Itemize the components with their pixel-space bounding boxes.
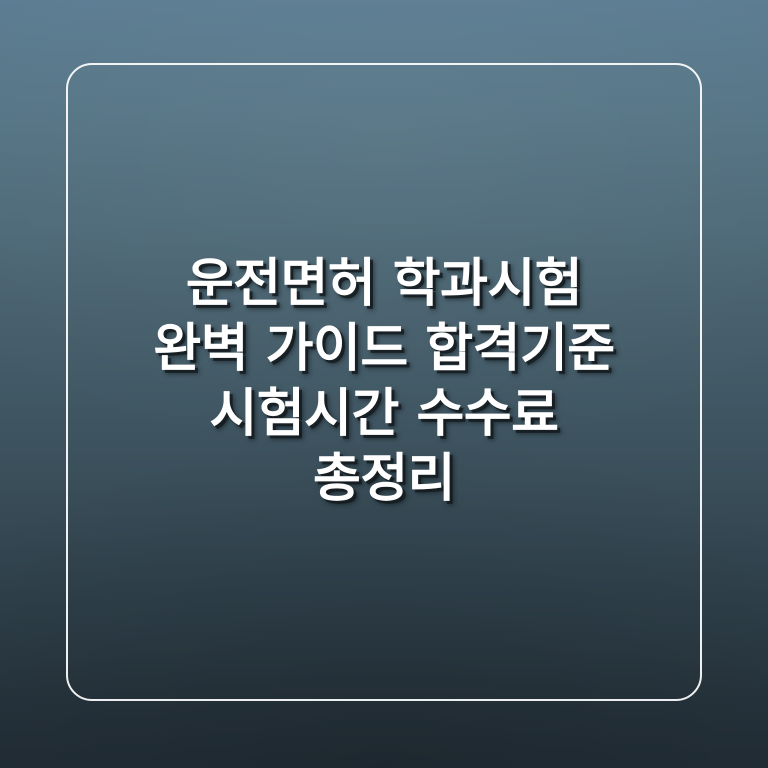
title-line-2: 완벽 가이드 합격기준	[72, 317, 696, 382]
title-line-1: 운전면허 학과시험	[72, 252, 696, 317]
title-line-4: 총정리	[72, 447, 696, 512]
title-block: 운전면허 학과시험 완벽 가이드 합격기준 시험시간 수수료 총정리	[0, 252, 768, 512]
poster-canvas: 운전면허 학과시험 완벽 가이드 합격기준 시험시간 수수료 총정리	[0, 0, 768, 768]
title-line-3: 시험시간 수수료	[72, 382, 696, 447]
